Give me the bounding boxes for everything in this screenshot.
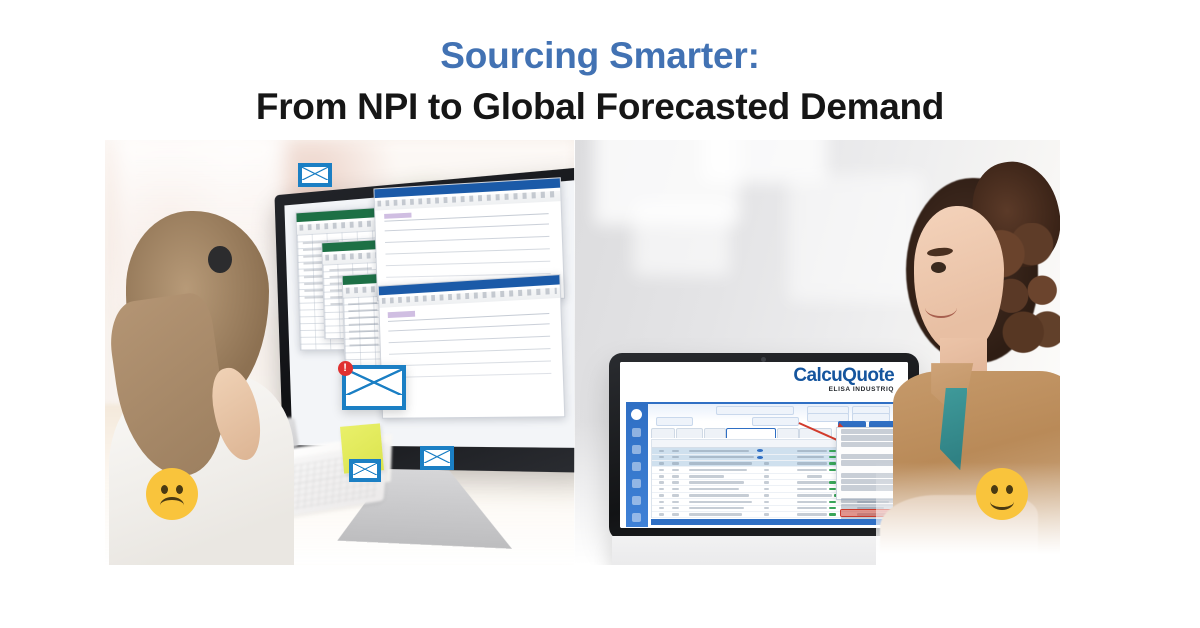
app-shell	[626, 402, 906, 527]
all-in-one-computer: CalcuQuote ELISA INDUSTRIQ	[609, 353, 919, 540]
assembly-number-field	[716, 406, 794, 415]
calcuquote-app: CalcuQuote ELISA INDUSTRIQ	[620, 362, 909, 528]
person-smile	[925, 297, 957, 318]
frustrated-person	[105, 195, 312, 565]
tab-mid[interactable]	[777, 428, 799, 438]
computer-chin	[612, 536, 916, 565]
email-message-body	[379, 298, 564, 418]
envelope-icon-top	[298, 163, 332, 187]
sidebar-item-messages[interactable]	[632, 496, 641, 505]
app-sidebar[interactable]	[626, 404, 648, 527]
marketing-banner: Sourcing Smarter: From NPI to Global For…	[0, 0, 1200, 628]
smiling-person	[876, 157, 1060, 565]
alert-badge: !	[338, 361, 353, 376]
smiling-face-icon	[976, 468, 1028, 520]
sidebar-item-bom[interactable]	[632, 462, 641, 471]
assembly-header	[651, 406, 903, 418]
sidebar-item-quotes[interactable]	[632, 445, 641, 454]
person-eye	[931, 262, 946, 273]
sidebar-logo-icon	[631, 409, 642, 420]
background-panel	[633, 200, 730, 277]
emoji-eye-right	[176, 485, 183, 494]
table-total-bar	[651, 519, 903, 525]
emoji-eye-left	[991, 485, 998, 494]
photo-fade-out	[876, 462, 1060, 565]
tab-bom[interactable]	[651, 428, 676, 438]
sidebar-item-dashboard[interactable]	[632, 428, 641, 437]
emoji-mouth	[990, 493, 1014, 510]
computer-display: CalcuQuote ELISA INDUSTRIQ	[620, 362, 909, 528]
hair-tie	[208, 246, 232, 273]
emoji-eye-left	[161, 485, 168, 494]
tab-labor[interactable]	[676, 428, 703, 438]
quote-notes-field	[656, 417, 693, 426]
tab-nre[interactable]	[704, 428, 726, 438]
tab-material-costing[interactable]	[726, 428, 776, 438]
envelope-icon-right	[420, 446, 454, 470]
emoji-eye-right	[1006, 485, 1013, 494]
sidebar-item-settings[interactable]	[632, 513, 641, 522]
sidebar-item-reports[interactable]	[632, 479, 641, 488]
assembly-notes-field	[752, 417, 799, 426]
headline-line-2: From NPI to Global Forecasted Demand	[0, 85, 1200, 129]
app-brandbar: CalcuQuote ELISA INDUSTRIQ	[620, 362, 909, 402]
headline-line-1: Sourcing Smarter:	[0, 34, 1200, 78]
envelope-icon-bottom	[349, 459, 381, 482]
frowning-face-icon	[146, 468, 198, 520]
emoji-mouth	[160, 497, 184, 514]
page-title: Sourcing Smarter: From NPI to Global For…	[0, 34, 1200, 128]
